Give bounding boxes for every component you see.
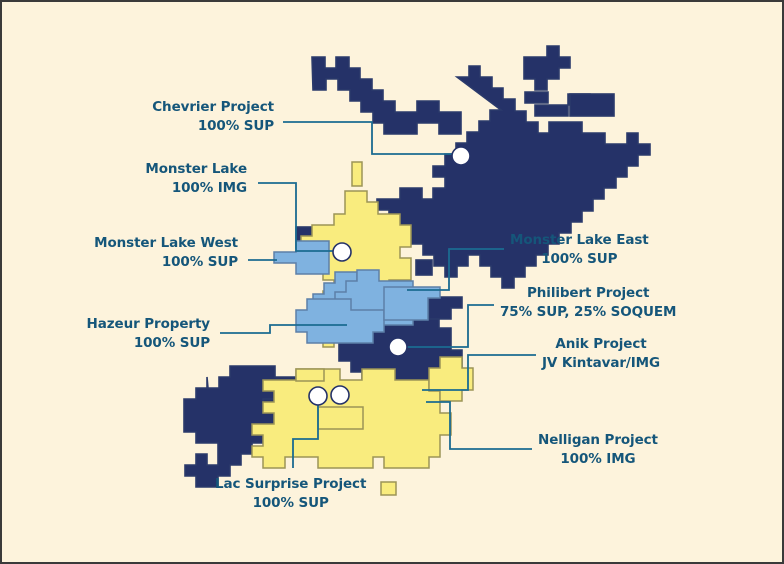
label-lac-surprise-line1: Lac Surprise Project [215,475,366,494]
navy-nelligan-square [416,260,432,275]
label-chevrier-line1: Chevrier Project [152,98,274,117]
property-map-figure: Chevrier Project 100% SUP Monster Lake 1… [0,0,784,564]
label-nelligan-project: Nelligan Project 100% IMG [538,431,658,468]
chevrier-deposit-marker [452,147,470,165]
map-canvas [2,2,784,564]
nelligan-deposit-marker [331,386,349,404]
lac-surprise-deposit-marker [309,387,327,405]
label-lac-surprise-line2: 100% SUP [215,494,366,513]
label-monster-lake-east: Monster Lake East 100% SUP [510,231,649,268]
navy-top-right-block-b [525,92,548,103]
yellow-lac-surprise-notch [296,369,324,381]
label-monster-lake-line1: Monster Lake [145,160,247,179]
navy-top-right-bar [570,94,614,116]
label-lac-surprise-project: Lac Surprise Project 100% SUP [215,475,366,512]
label-monster-lake-west-line1: Monster Lake West [94,234,238,253]
label-monster-lake-west: Monster Lake West 100% SUP [94,234,238,271]
label-hazeur-property: Hazeur Property 100% SUP [87,315,210,352]
label-monster-lake: Monster Lake 100% IMG [145,160,247,197]
label-philibert-line1: Philibert Project [500,284,676,303]
label-philibert-project: Philibert Project 75% SUP, 25% SOQUEM [500,284,676,321]
monster-lake-deposit-marker [333,243,351,261]
label-anik-line1: Anik Project [542,335,660,354]
yellow-monster-lake-sliver [352,162,362,186]
label-anik-project: Anik Project JV Kintavar/IMG [542,335,660,372]
leader-line-chevrier [283,122,461,154]
label-chevrier-line2: 100% SUP [152,117,274,136]
anik-deposit-marker [389,338,407,356]
navy-sliver-east [429,297,462,319]
yellow-lac-surprise-east-bar [318,407,363,429]
label-monster-lake-east-line1: Monster Lake East [510,231,649,250]
label-nelligan-line2: 100% IMG [538,450,658,469]
label-anik-line2: JV Kintavar/IMG [542,354,660,373]
label-monster-lake-line2: 100% IMG [145,179,247,198]
navy-top-right-block-a [524,46,570,90]
label-hazeur-line2: 100% SUP [87,334,210,353]
label-monster-lake-east-line2: 100% SUP [510,250,649,269]
label-chevrier-project: Chevrier Project 100% SUP [152,98,274,135]
lightblue-monster-lake-west [274,241,329,274]
label-nelligan-line1: Nelligan Project [538,431,658,450]
label-philibert-line2: 75% SUP, 25% SOQUEM [500,303,676,322]
label-monster-lake-west-line2: 100% SUP [94,253,238,272]
label-hazeur-line1: Hazeur Property [87,315,210,334]
yellow-isolated-claim [381,482,396,495]
